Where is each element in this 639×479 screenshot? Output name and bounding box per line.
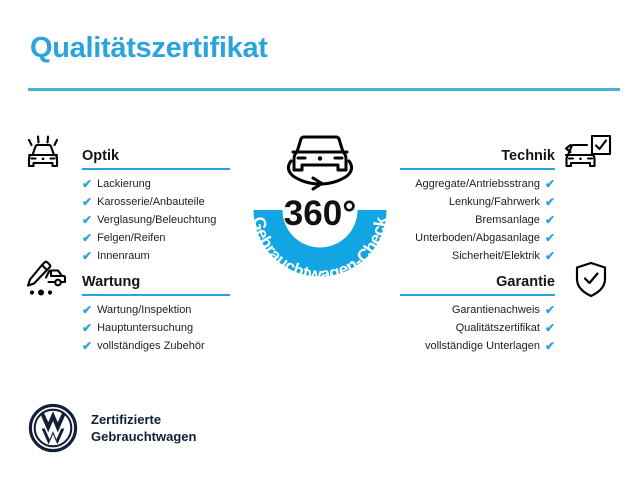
list-item: Qualitätszertifikat✔ (400, 319, 555, 337)
list-item-label: Hauptuntersuchung (97, 319, 193, 337)
list-item-label: Verglasung/Beleuchtung (97, 211, 216, 229)
check-icon: ✔ (545, 304, 555, 316)
list-item: Aggregate/Antriebsstrang✔ (400, 175, 555, 193)
footer-line-1: Zertifizierte (91, 411, 196, 428)
check-icon: ✔ (82, 178, 92, 190)
check-icon: ✔ (82, 340, 92, 352)
section-underline (400, 168, 555, 170)
list-item-label: Wartung/Inspektion (97, 301, 191, 319)
certificate-page: Qualitätszertifikat (0, 0, 639, 479)
section-title: Garantie (496, 274, 555, 290)
check-icon: ✔ (545, 322, 555, 334)
list-item-label: vollständiges Zubehör (97, 337, 205, 355)
section-optik: Optik ✔Lackierung ✔Karosserie/Anbauteile… (82, 140, 230, 265)
section-title: Technik (501, 148, 555, 164)
footer-line-2: Gebrauchtwagen (91, 428, 196, 445)
page-title: Qualitätszertifikat (30, 32, 268, 65)
section-underline (82, 294, 230, 296)
check-icon: ✔ (82, 250, 92, 262)
list-item-label: Lackierung (97, 175, 151, 193)
check-icon: ✔ (82, 322, 92, 334)
list-item: ✔Felgen/Reifen (82, 229, 230, 247)
list-item: ✔Wartung/Inspektion (82, 301, 230, 319)
check-icon: ✔ (545, 178, 555, 190)
list-item: Sicherheit/Elektrik✔ (400, 247, 555, 265)
list-item-label: Felgen/Reifen (97, 229, 166, 247)
check-icon: ✔ (82, 214, 92, 226)
checklist-technik: Aggregate/Antriebsstrang✔ Lenkung/Fahrwe… (400, 170, 555, 265)
section-header-optik: Optik (82, 140, 230, 170)
badge-center-label: 360° (284, 194, 356, 233)
list-item-label: Aggregate/Antriebsstrang (415, 175, 540, 193)
check-icon: ✔ (545, 340, 555, 352)
list-item: ✔Lackierung (82, 175, 230, 193)
footer-text: Zertifizierte Gebrauchtwagen (91, 411, 196, 445)
checklist-optik: ✔Lackierung ✔Karosserie/Anbauteile ✔Verg… (82, 170, 230, 265)
car-shine-icon (22, 133, 68, 180)
checklist-wartung: ✔Wartung/Inspektion ✔Hauptuntersuchung ✔… (82, 296, 230, 355)
footer-logo: Zertifizierte Gebrauchtwagen (28, 403, 196, 453)
section-title: Wartung (82, 274, 140, 290)
list-item: ✔vollständiges Zubehör (82, 337, 230, 355)
shield-check-icon (572, 259, 610, 306)
list-item: ✔Karosserie/Anbauteile (82, 193, 230, 211)
list-item-label: Garantienachweis (452, 301, 540, 319)
section-header-technik: Technik (400, 140, 555, 170)
list-item: ✔Hauptuntersuchung (82, 319, 230, 337)
list-item: ✔Verglasung/Beleuchtung (82, 211, 230, 229)
section-underline (82, 168, 230, 170)
section-garantie: Garantie Garantienachweis✔ Qualitätszert… (400, 266, 555, 355)
car-checkbox-icon (565, 133, 613, 180)
check-icon: ✔ (82, 232, 92, 244)
title-divider (28, 88, 620, 91)
checklist-garantie: Garantienachweis✔ Qualitätszertifikat✔ v… (400, 296, 555, 355)
list-item-label: Karosserie/Anbauteile (97, 193, 205, 211)
service-book-pen-icon (22, 259, 68, 306)
list-item: Garantienachweis✔ (400, 301, 555, 319)
list-item: ✔Innenraum (82, 247, 230, 265)
section-wartung: Wartung ✔Wartung/Inspektion ✔Hauptunters… (82, 266, 230, 355)
list-item-label: Lenkung/Fahrwerk (449, 193, 540, 211)
section-underline (400, 294, 555, 296)
car-rotate-icon (288, 137, 351, 189)
check-icon: ✔ (82, 196, 92, 208)
list-item: Unterboden/Abgasanlage✔ (400, 229, 555, 247)
check-icon: ✔ (545, 214, 555, 226)
list-item-label: Innenraum (97, 247, 150, 265)
section-technik: Technik Aggregate/Antriebsstrang✔ Lenkun… (400, 140, 555, 265)
section-title: Optik (82, 148, 119, 164)
list-item-label: Sicherheit/Elektrik (452, 247, 540, 265)
list-item-label: Qualitätszertifikat (456, 319, 540, 337)
list-item-label: Bremsanlage (475, 211, 540, 229)
list-item-label: vollständige Unterlagen (425, 337, 540, 355)
volkswagen-logo-icon (28, 403, 78, 453)
section-header-wartung: Wartung (82, 266, 230, 296)
check-icon: ✔ (545, 196, 555, 208)
check-icon: ✔ (545, 250, 555, 262)
check-icon: ✔ (545, 232, 555, 244)
list-item: Lenkung/Fahrwerk✔ (400, 193, 555, 211)
list-item-label: Unterboden/Abgasanlage (415, 229, 540, 247)
list-item: vollständige Unterlagen✔ (400, 337, 555, 355)
list-item: Bremsanlage✔ (400, 211, 555, 229)
check-icon: ✔ (82, 304, 92, 316)
360-check-badge: Gebrauchtwagen-Check 360° (227, 112, 413, 308)
section-header-garantie: Garantie (400, 266, 555, 296)
